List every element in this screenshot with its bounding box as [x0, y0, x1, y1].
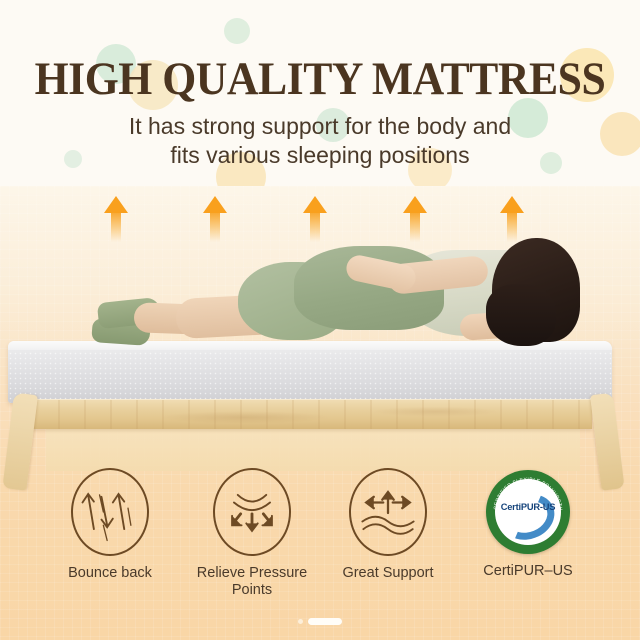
badge-center-text: CertiPUR-US — [495, 502, 561, 512]
feature-list: Bounce back Relieve Pressure Points — [0, 468, 640, 598]
page-subtitle: It has strong support for the body and f… — [0, 112, 640, 170]
support-arrow-3 — [303, 196, 327, 242]
feature-label: Bounce back — [30, 565, 190, 582]
support-arrow-5 — [500, 196, 524, 242]
product-infographic-page: HIGH QUALITY MATTRESS It has strong supp… — [0, 0, 640, 640]
badge-inner-disc: CertiPUR-US — [495, 479, 561, 545]
support-arrows-icon — [349, 468, 427, 556]
carousel-pill-active[interactable] — [308, 618, 342, 625]
carousel-indicator[interactable] — [0, 615, 640, 627]
mattress — [8, 341, 612, 403]
subtitle-line-2: fits various sleeping positions — [0, 141, 640, 170]
bed-frame-lower-panel — [46, 429, 580, 471]
hair-strands — [486, 284, 556, 346]
feature-bounce-back[interactable]: Bounce back — [30, 468, 190, 582]
feature-label: Great Support — [308, 565, 468, 582]
feature-label: CertiPUR–US — [448, 563, 608, 580]
page-title: HIGH QUALITY MATTRESS — [22, 52, 617, 106]
subtitle-line-1: It has strong support for the body and — [0, 112, 640, 141]
feature-certipur[interactable]: CONTAINS CERTIFIED FLEXIBLE POLYURETHANE… — [448, 468, 608, 580]
pressure-relief-icon — [213, 468, 291, 556]
person-illustration — [88, 238, 558, 346]
support-arrow-2 — [203, 196, 227, 242]
carousel-dot-1[interactable] — [298, 619, 303, 624]
bounce-arrows-icon — [71, 468, 149, 556]
support-arrow-1 — [104, 196, 128, 242]
feature-great-support[interactable]: Great Support — [308, 468, 468, 582]
support-arrow-4 — [403, 196, 427, 242]
decor-circle-green-2 — [224, 18, 250, 44]
header-section: HIGH QUALITY MATTRESS It has strong supp… — [0, 0, 640, 186]
certipur-badge-icon: CONTAINS CERTIFIED FLEXIBLE POLYURETHANE… — [486, 470, 570, 554]
feature-label-line-2: Points — [172, 582, 332, 599]
bed-frame-rail — [32, 399, 592, 429]
